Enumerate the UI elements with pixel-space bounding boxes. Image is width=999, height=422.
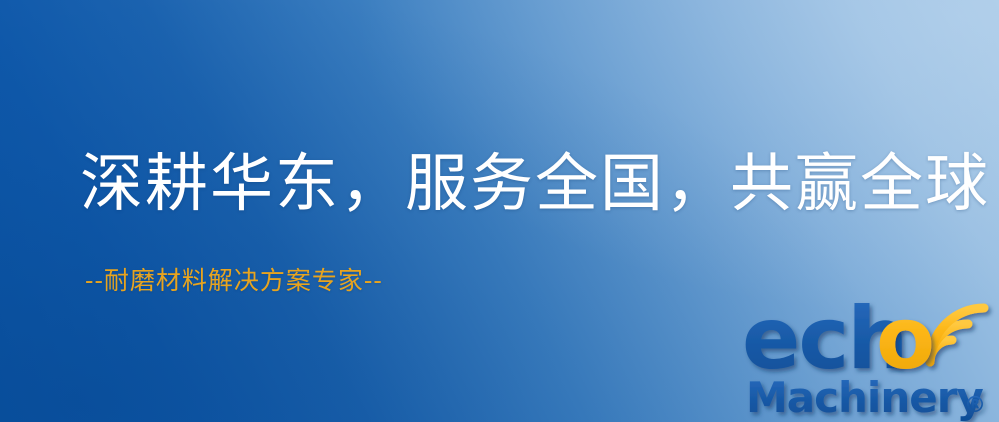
echo-waves-icon (930, 308, 984, 362)
logo-tagline: Machinery (746, 373, 983, 422)
banner-subtitle: --耐磨材料解决方案专家-- (85, 268, 383, 293)
logo-registered-mark: ® (964, 393, 986, 418)
echo-machinery-logo: ech o Machinery ® (742, 288, 999, 422)
hero-banner: 深耕华东，服务全国，共赢全球 --耐磨材料解决方案专家-- (0, 0, 999, 422)
banner-headline: 深耕华东，服务全国，共赢全球 (80, 152, 990, 215)
